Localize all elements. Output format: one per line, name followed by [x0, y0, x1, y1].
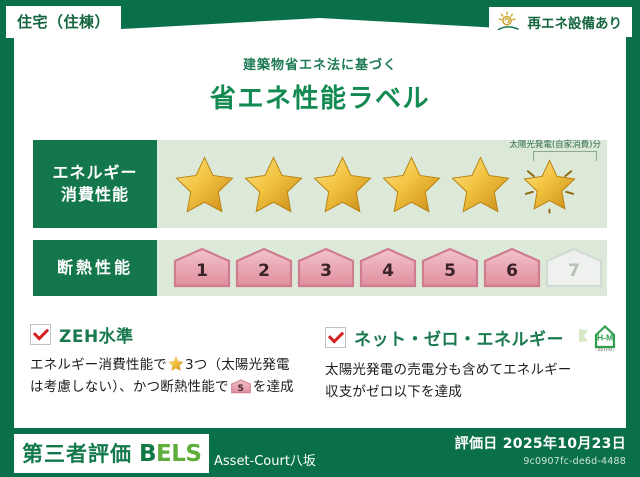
third-party-eval-label: 第三者評価 [22, 438, 132, 468]
evaluation-info: 評価日 2025年10月23日 9c0907fc-de6d-4488 [455, 433, 626, 467]
renewable-equipment-badge: 再エネ設備あり [489, 7, 633, 37]
criteria-zeh-text3: は考慮しない）、かつ断熱性能で [30, 379, 229, 395]
label-subtitle: 建築物省エネ法に基づく [0, 54, 640, 73]
criteria-zeh-text2: 3つ（太陽光発電 [185, 357, 290, 373]
insulation-grade-1-value: 1 [173, 261, 231, 281]
energy-label-line1: エネルギー [52, 162, 137, 184]
bels-letters-els: ELS [156, 441, 201, 467]
energy-star-rating [157, 140, 607, 228]
star-icon-solar [518, 154, 581, 214]
energy-performance-row: エネルギー 消費性能 太陽光発電(自家消費)分 [33, 140, 607, 228]
insulation-performance-label: 断熱性能 [33, 240, 157, 296]
insulation-grade-6-value: 6 [483, 261, 541, 281]
label-titles: 建築物省エネ法に基づく 省エネ性能ラベル [0, 54, 640, 115]
building-name: Asset-Court八坂 [214, 450, 316, 469]
checkbox-checked-icon [30, 324, 51, 345]
renewable-badge-label: 再エネ設備あり [528, 12, 623, 32]
label-title: 省エネ性能ラベル [0, 78, 640, 115]
evaluation-id: 9c0907fc-de6d-4488 [455, 456, 626, 467]
bels-energy-label: 住宅（住棟） 再エネ設備あり 建築物省エネ法に基づく 省エネ性能ラベル エネルギ… [0, 0, 640, 477]
label-footer: 第三者評価 BELS Asset-Court八坂 評価日 2025年10月23日… [0, 428, 640, 477]
insulation-grade-2: 2 [235, 248, 293, 288]
solar-self-consumption-note: 太陽光発電(自家消費)分 [509, 138, 601, 150]
insulation-grade-7-value: 7 [545, 261, 603, 281]
star-icon-inline [168, 356, 184, 371]
insulation-grade-2-value: 2 [235, 261, 293, 281]
star-icon [242, 154, 305, 214]
insulation-grade-3: 3 [297, 248, 355, 288]
star-icon [311, 154, 374, 214]
insulation-badge-inline: 5 [231, 379, 251, 394]
criteria-zeh-body: エネルギー消費性能で3つ（太陽光発電は考慮しない）、かつ断熱性能で5を達成 [30, 354, 320, 399]
svg-text:『ZEH-M』: 『ZEH-M』 [593, 346, 617, 352]
insulation-performance-row: 断熱性能 1 2 3 4 [33, 240, 607, 296]
star-icon [173, 154, 236, 214]
sun-solar-icon [496, 11, 522, 33]
bels-letter-b: B [139, 441, 156, 467]
energy-performance-label: エネルギー 消費性能 [33, 140, 157, 228]
insulation-grade-6: 6 [483, 248, 541, 288]
criteria-nze-title: ネット・ゼロ・エネルギー [354, 325, 564, 350]
criteria-nze-header: ネット・ゼロ・エネルギー H-M 『ZEH-M』 [325, 322, 621, 352]
criteria-nze-body: 太陽光発電の売電分も含めてエネルギー収支がゼロ以下を達成 [325, 359, 621, 404]
bels-wordmark: BELS [139, 441, 201, 467]
energy-label-line2: 消費性能 [61, 184, 129, 206]
evaluation-date: 評価日 2025年10月23日 [455, 433, 626, 453]
criteria-zeh-text4: を達成 [253, 379, 294, 395]
criteria-zeh: ZEH水準 エネルギー消費性能で3つ（太陽光発電は考慮しない）、かつ断熱性能で5… [30, 322, 320, 399]
insulation-grades-area: 1 2 3 4 5 [157, 240, 607, 296]
insulation-grade-7: 7 [545, 248, 603, 288]
category-tag: 住宅（住棟） [6, 6, 121, 38]
star-icon [380, 154, 443, 214]
insulation-grade-4-value: 4 [359, 261, 417, 281]
criteria-zeh-header: ZEH水準 [30, 322, 320, 347]
insulation-grade-5-value: 5 [421, 261, 479, 281]
checkbox-checked-icon [325, 327, 346, 348]
criteria-zeh-title: ZEH水準 [59, 322, 134, 347]
svg-text:H-M: H-M [597, 333, 613, 343]
criteria-net-zero-energy: ネット・ゼロ・エネルギー H-M 『ZEH-M』 太陽光発電の売電分も含めてエネ… [325, 322, 621, 404]
insulation-grade-scale: 1 2 3 4 5 [157, 240, 607, 296]
criteria-zeh-text1: エネルギー消費性能で [30, 357, 167, 373]
bels-certification-mark: 第三者評価 BELS [14, 434, 209, 473]
insulation-grade-3-value: 3 [297, 261, 355, 281]
zeh-m-logo-icon: H-M 『ZEH-M』 [574, 322, 620, 352]
criteria-nze-text1: 太陽光発電の売電分も含めてエネルギー [325, 362, 572, 378]
insulation-grade-5: 5 [421, 248, 479, 288]
star-icon [449, 154, 512, 214]
insulation-badge-inline-value: 5 [231, 382, 251, 397]
energy-stars-area: 太陽光発電(自家消費)分 [157, 140, 607, 228]
evaluation-date-label: 評価日 [455, 436, 498, 452]
insulation-grade-1: 1 [173, 248, 231, 288]
criteria-nze-text2: 収支がゼロ以下を達成 [325, 384, 462, 400]
evaluation-date-value: 2025年10月23日 [503, 436, 626, 452]
insulation-grade-4: 4 [359, 248, 417, 288]
